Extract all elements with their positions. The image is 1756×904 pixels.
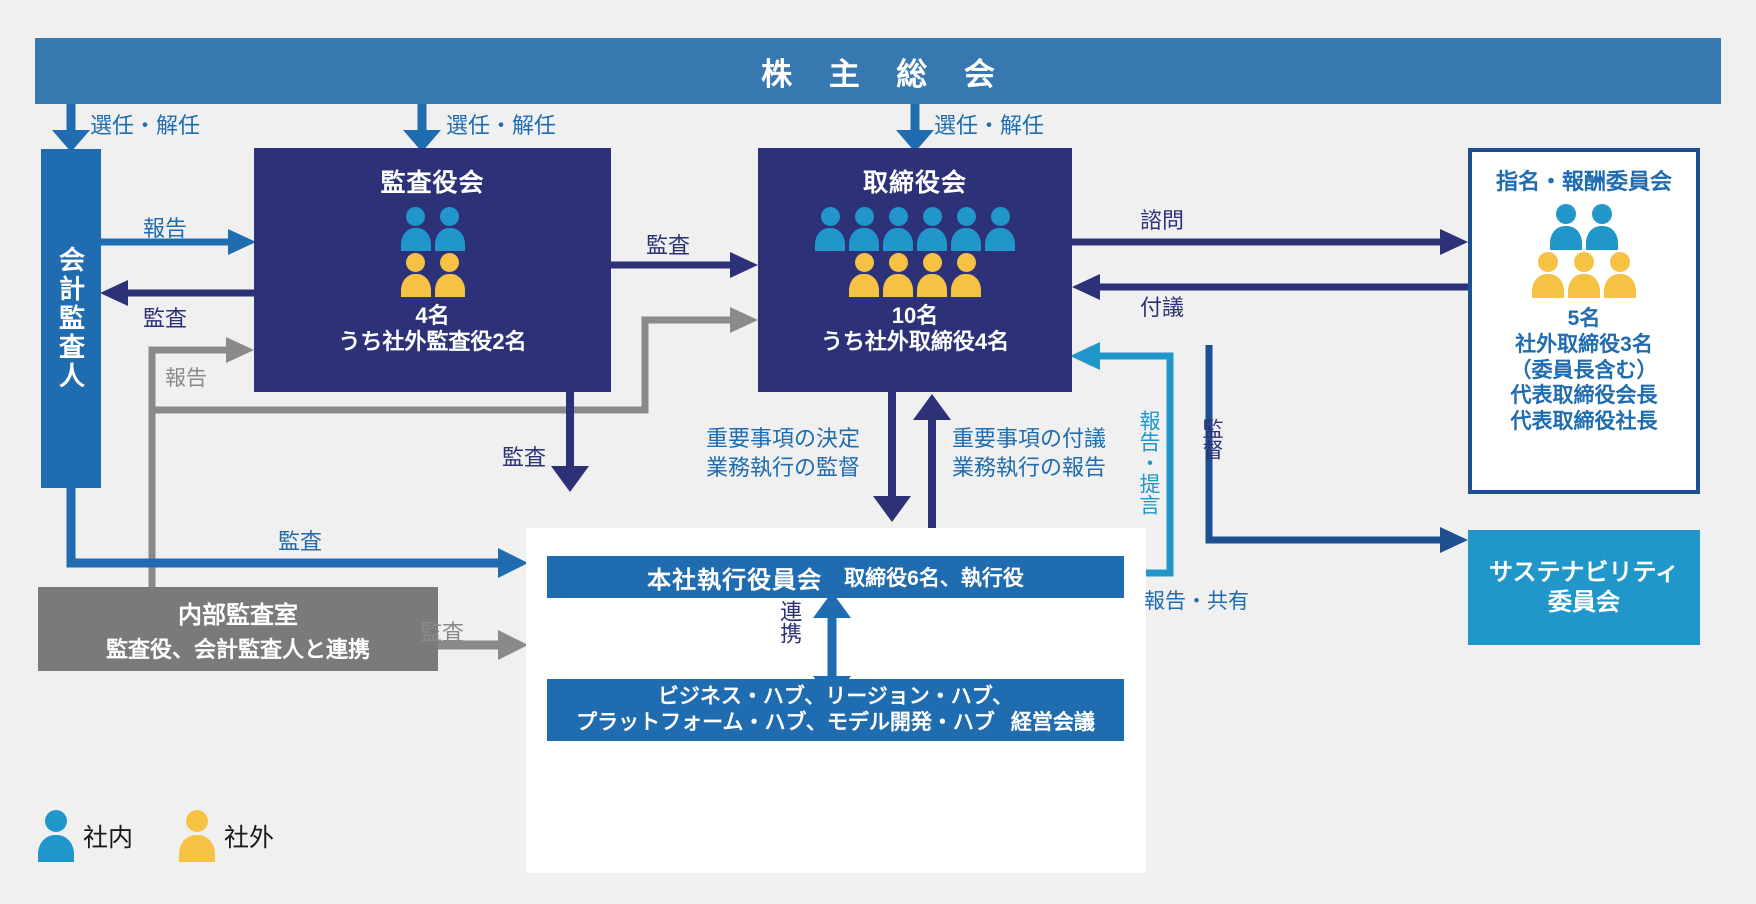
hub-line-2: プラットフォーム・ハブ、モデル開発・ハブ [576, 711, 995, 734]
label-audit-board-of-auditors-to-directors: 監査 [646, 228, 690, 260]
label-report-share: 報告・共有 [1144, 585, 1249, 615]
executive-bar-title: 本社執行役員会 [647, 560, 822, 595]
board-of-directors-count: 10名 [758, 303, 1072, 329]
external-person-row [401, 253, 465, 297]
head-office-executive-committee-bar: 本社執行役員会 取締役6名、執行役 [547, 556, 1124, 598]
label-submit: 付議 [1140, 290, 1184, 322]
label-consult: 諮問 [1140, 203, 1184, 235]
board-of-auditors-count: 4名 [254, 303, 611, 329]
label-important-report: 重要事項の付議 業務執行の報告 [952, 425, 1106, 482]
board-of-auditors-box: 監査役会 4名 うち社外監査役2名 [254, 148, 611, 392]
label-important-decision-line1: 重要事項の決定 [706, 425, 860, 454]
external-person-row [1532, 252, 1636, 298]
person-icon [849, 253, 879, 297]
person-icon [883, 253, 913, 297]
label-important-report-line1: 重要事項の付議 [952, 425, 1106, 454]
person-icon [401, 253, 431, 297]
internal-person-row [401, 207, 465, 251]
internal-audit-office-box: 内部監査室 監査役、会計監査人と連携 [38, 587, 438, 671]
board-of-directors-title: 取締役会 [758, 148, 1072, 199]
internal-person-row [1550, 204, 1618, 250]
internal-audit-detail: 監査役、会計監査人と連携 [106, 632, 370, 664]
edge-shareholders-to-board-of-auditors [403, 104, 441, 152]
label-audit-to-executive: 監査 [502, 440, 546, 472]
executive-bar-detail: 取締役6名、執行役 [844, 562, 1024, 592]
hub-management-meeting-bar: ビジネス・ハブ、リージョン・ハブ、 プラットフォーム・ハブ、モデル開発・ハブ経営… [547, 679, 1124, 741]
hub-line-1: ビジネス・ハブ、リージョン・ハブ、 [658, 684, 1013, 710]
nomination-committee-detail-2: （委員長含む） [1472, 358, 1696, 384]
label-supervise: 監督 [1196, 418, 1226, 460]
label-important-decision-line2: 業務執行の監督 [706, 454, 860, 483]
label-audit-to-accounting-auditor: 監査 [143, 301, 187, 333]
nomination-committee-detail-3: 代表取締役会長 [1472, 383, 1696, 409]
executive-link-label: 連携 [778, 600, 801, 649]
sustainability-committee-line2: 委員会 [1489, 588, 1679, 617]
person-icon [849, 207, 879, 251]
label-report-to-board-of-auditors: 報告 [143, 211, 187, 243]
edge-shareholders-to-auditor [52, 104, 90, 152]
hub-line-2-wrap: プラットフォーム・ハブ、モデル開発・ハブ経営会議 [576, 710, 1095, 736]
nomination-committee-count: 5名 [1472, 302, 1696, 332]
edge-nomination-submit-to-board-of-directors [1072, 274, 1468, 300]
internal-person-row [815, 207, 1015, 251]
accounting-auditor-label: 会計監査人 [53, 246, 90, 391]
person-icon [815, 207, 845, 251]
label-appoint-auditor: 選任・解任 [90, 108, 200, 140]
board-of-directors-box: 取締役会 10名 うち社外取締役4名 [758, 148, 1072, 392]
nomination-committee-detail-1: 社外取締役3名 [1472, 332, 1696, 358]
legend-label-external: 社外 [224, 818, 274, 854]
label-appoint-board-of-directors: 選任・解任 [934, 108, 1044, 140]
accounting-auditor-box: 会計監査人 [41, 149, 101, 488]
legend-label-internal: 社内 [83, 818, 133, 854]
person-icon [435, 207, 465, 251]
person-icon [917, 253, 947, 297]
label-audit-auditor-to-executive: 監査 [278, 524, 322, 556]
person-icon [179, 810, 215, 862]
board-of-auditors-detail: うち社外監査役2名 [254, 329, 611, 355]
sustainability-committee-line1: サステナビリティ [1489, 558, 1679, 587]
person-icon [883, 207, 913, 251]
nomination-committee-detail-4: 代表取締役社長 [1472, 409, 1696, 435]
nomination-committee-title: 指名・報酬委員会 [1472, 152, 1696, 196]
internal-audit-title: 内部監査室 [178, 595, 298, 630]
person-icon [951, 253, 981, 297]
person-icon [401, 207, 431, 251]
board-of-auditors-title: 監査役会 [254, 148, 611, 199]
label-important-decision: 重要事項の決定 業務執行の監督 [706, 425, 860, 482]
nomination-committee-people-icons [1472, 204, 1696, 298]
board-of-directors-people-icons [758, 207, 1072, 297]
label-report-proposal: 報告・提言 [1133, 410, 1163, 515]
nomination-compensation-committee-box: 指名・報酬委員会 5名 社外取締役3名 （委員長含む） 代表取締役会長 代表取締… [1468, 148, 1700, 494]
person-icon [435, 253, 465, 297]
label-report-gray: 報告 [165, 362, 207, 392]
external-person-row [849, 253, 981, 297]
legend-item-internal: 社内 [38, 810, 133, 862]
person-icon [1604, 252, 1636, 298]
hub-meeting-label: 経営会議 [1011, 711, 1095, 734]
legend: 社内 社外 [38, 810, 274, 862]
person-icon [38, 810, 74, 862]
person-icon [1550, 204, 1582, 250]
edge-executive-to-board-of-directors [913, 394, 951, 528]
person-icon [917, 207, 947, 251]
legend-item-external: 社外 [179, 810, 274, 862]
edge-board-of-directors-supervise-to-sustainability [1209, 345, 1468, 553]
person-icon [1532, 252, 1564, 298]
edge-board-of-directors-to-executive [873, 392, 911, 522]
shareholders-meeting-label: 株 主 総 会 [747, 49, 1009, 94]
person-icon [1568, 252, 1600, 298]
label-appoint-board-of-auditors: 選任・解任 [446, 108, 556, 140]
board-of-auditors-people-icons [254, 207, 611, 297]
person-icon [1586, 204, 1618, 250]
label-audit-internal-to-executive: 監査 [420, 615, 464, 647]
edge-shareholders-to-board-of-directors [896, 104, 934, 152]
person-icon [985, 207, 1015, 251]
person-icon [951, 207, 981, 251]
shareholders-meeting-box: 株 主 総 会 [35, 38, 1721, 104]
sustainability-committee-box: サステナビリティ 委員会 [1468, 530, 1700, 645]
label-important-report-line2: 業務執行の報告 [952, 454, 1106, 483]
board-of-directors-detail: うち社外取締役4名 [758, 329, 1072, 355]
edge-board-of-directors-consult-to-nomination [1072, 229, 1468, 255]
governance-diagram: 株 主 総 会 会計監査人 監査役会 4名 うち社外監査役2名 取締役会 [0, 0, 1756, 904]
